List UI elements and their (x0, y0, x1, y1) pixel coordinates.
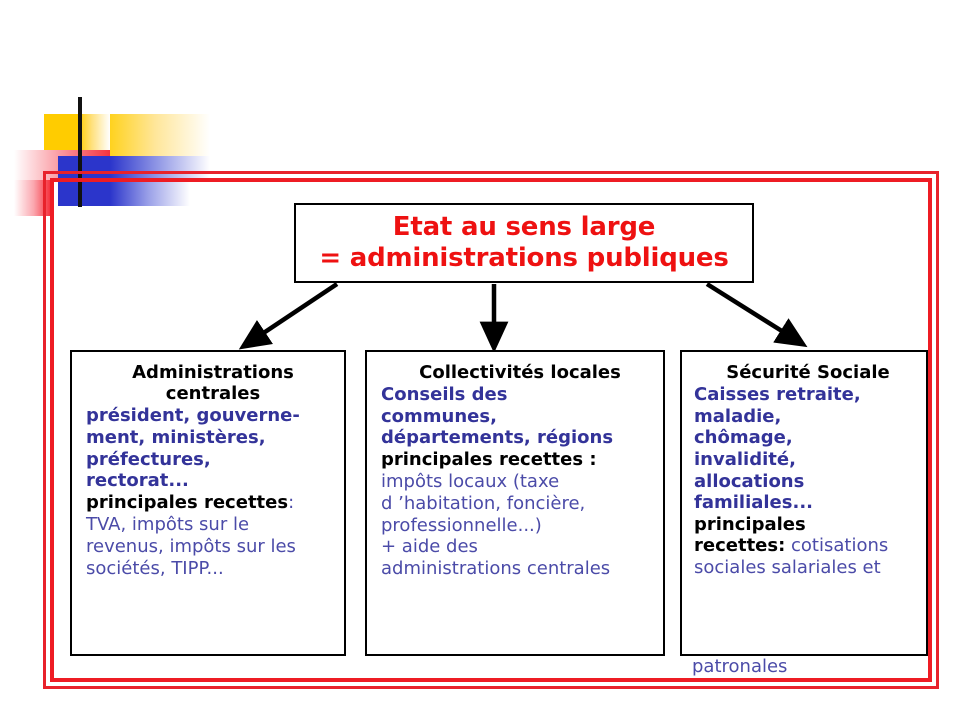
box3-members-line-2: maladie, (694, 406, 922, 428)
box3-heading-line-1: Sécurité Sociale (694, 362, 922, 383)
box1-revenue-label: principales recettes (86, 492, 288, 513)
box2-heading: Collectivités locales (381, 362, 659, 383)
box1-members: président, gouverne- ment, ministères, p… (86, 405, 340, 491)
box1-members-line-3: préfectures, (86, 449, 340, 471)
box1-revenue-line-2: revenus, impôts sur les (86, 536, 340, 558)
box1-heading-line-1: Administrations (86, 362, 340, 383)
box3-members-line-4: invalidité, (694, 449, 922, 471)
box3-members-line-3: chômage, (694, 427, 922, 449)
box3-members-line-6: familiales... (694, 492, 922, 514)
slide-canvas: Etat au sens large = administrations pub… (0, 0, 960, 720)
title-box: Etat au sens large = administrations pub… (294, 203, 754, 283)
box2-revenue-line-2: d ’habitation, foncière, (381, 493, 659, 515)
box3-overflow-text: patronales (692, 656, 942, 678)
box2-revenue-items: impôts locaux (taxe d ’habitation, fonci… (381, 471, 659, 581)
box-securite-sociale: Sécurité Sociale Caisses retraite, malad… (680, 350, 928, 656)
box3-revenue-items: sociales salariales et (694, 557, 922, 579)
box2-members-line-3: départements, régions (381, 427, 659, 449)
box3-heading: Sécurité Sociale (694, 362, 922, 383)
box1-revenue-label-suffix: : (288, 492, 294, 513)
box2-revenue-line-4: + aide des (381, 536, 659, 558)
box2-members-line-1: Conseils des (381, 384, 659, 406)
box2-members-line-2: communes, (381, 406, 659, 428)
box2-heading-line-1: Collectivités locales (381, 362, 659, 383)
box3-revenue-label-line-2: recettes: (694, 535, 785, 556)
box2-revenue-line-1: impôts locaux (taxe (381, 471, 659, 493)
box3-members-line-1: Caisses retraite, (694, 384, 922, 406)
box1-heading-line-2: centrales (86, 383, 340, 404)
box2-revenue-label: principales recettes : (381, 449, 659, 471)
page-title: Etat au sens large = administrations pub… (319, 212, 728, 273)
box2-revenue-line-5: administrations centrales (381, 558, 659, 580)
box3-revenue-inline: cotisations (785, 535, 888, 556)
box3-members: Caisses retraite, maladie, chômage, inva… (694, 384, 922, 514)
box1-revenue-line-3: sociétés, TIPP... (86, 558, 340, 580)
box3-revenue-label: principales (694, 514, 922, 536)
box1-members-line-4: rectorat... (86, 470, 340, 492)
title-line-2: = administrations publiques (319, 243, 728, 274)
box3-revenue-line-1: sociales salariales et (694, 557, 922, 579)
decor-yellow-fade (110, 114, 210, 156)
box3-revenue-label-row: recettes: cotisations (694, 535, 922, 557)
box3-members-line-5: allocations (694, 471, 922, 493)
box2-revenue-line-3: professionnelle...) (381, 515, 659, 537)
box1-heading: Administrations centrales (86, 362, 340, 404)
box1-revenue-items: TVA, impôts sur le revenus, impôts sur l… (86, 514, 340, 580)
title-line-1: Etat au sens large (319, 212, 728, 243)
box-administrations-centrales: Administrations centrales président, gou… (70, 350, 346, 656)
box-collectivites-locales: Collectivités locales Conseils des commu… (365, 350, 665, 656)
box1-revenue-line-1: TVA, impôts sur le (86, 514, 340, 536)
box1-members-line-2: ment, ministères, (86, 427, 340, 449)
box1-members-line-1: président, gouverne- (86, 405, 340, 427)
box2-members: Conseils des communes, départements, rég… (381, 384, 659, 449)
box1-revenue-label-row: principales recettes: (86, 492, 340, 514)
box3-revenue-label-line-1: principales (694, 514, 922, 536)
